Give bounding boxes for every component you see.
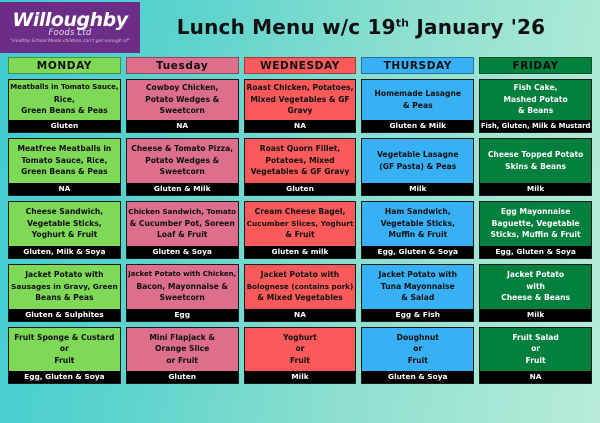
menu-item-line: Chicken Sandwich, Tomato (128, 206, 236, 218)
menu-item-line: Vegetable Lasagne (377, 149, 458, 161)
allergen-badge: NA (9, 183, 120, 195)
menu-cell-friday-1: Fish Cake,Mashed Potato& BeansFish, Glut… (479, 79, 592, 133)
menu-cell-friday-2: Cheese Topped PotatoSkins & BeansMilk (479, 138, 592, 196)
menu-item-line: Baguette, Vegetable (492, 218, 580, 230)
menu-cell-wednesday-2: Roast Quorn Fillet,Potatoes, MixedVegeta… (244, 138, 357, 196)
menu-item-line: or (60, 343, 69, 355)
menu-item-line: & Cucumber Pot, Soreen (130, 218, 235, 230)
menu-item-line: Potatoes, Mixed (265, 155, 334, 167)
menu-item-text: Jacket Potato withBolognese (contains po… (245, 265, 356, 309)
menu-cell-wednesday-4: Jacket Potato withBolognese (contains po… (244, 264, 357, 322)
allergen-badge: Gluten (245, 183, 356, 195)
menu-item-text: Ham Sandwich,Vegetable Sticks,Muffin & F… (362, 202, 473, 246)
menu-item-line: Cream Cheese Bagel, (255, 206, 346, 218)
allergen-badge: Gluten (9, 120, 120, 132)
menu-item-text: Cream Cheese Bagel,Cucumber Slices, Yogh… (245, 202, 356, 246)
menu-item-text: Roast Quorn Fillet,Potatoes, MixedVegeta… (245, 139, 356, 183)
menu-item-line: Jacket Potato (507, 269, 564, 281)
menu-item-line: Loaf & Fruit (157, 229, 207, 241)
day-column-tuesday: TuesdayCowboy Chicken,Potato Wedges &Swe… (126, 57, 239, 384)
menu-grid: MONDAYMeatballs in Tomato Sauce,Rice,Gre… (8, 57, 592, 384)
allergen-badge: Egg, Gluten & Soya (362, 246, 473, 258)
menu-item-line: Bacon, Mayonnaise & (136, 281, 228, 293)
menu-cell-tuesday-4: Jacket Potato with Chicken,Bacon, Mayonn… (126, 264, 239, 322)
menu-item-line: Orange Slice (155, 343, 209, 355)
day-header-monday: MONDAY (8, 57, 121, 74)
menu-item-line: Roast Chicken, Potatoes, (247, 82, 354, 94)
menu-cell-friday-4: Jacket PotatowithCheese & BeansMilk (479, 264, 592, 322)
menu-item-line: Rice, (54, 94, 75, 106)
menu-item-line: Yoghurt (283, 332, 317, 344)
menu-cell-friday-3: Egg MayonnaiseBaguette, VegetableSticks,… (479, 201, 592, 259)
logo-subtitle: Foods Ltd (48, 29, 91, 38)
allergen-badge: Gluten & Soya (362, 371, 473, 383)
menu-item-line: Skins & Beans (505, 161, 566, 173)
day-header-friday: FRIDAY (479, 57, 592, 74)
menu-item-line: & Peas (403, 100, 433, 112)
allergen-badge: Gluten & Sulphites (9, 309, 120, 321)
menu-cell-thursday-1: Homemade Lasagne& PeasGluten & Milk (361, 79, 474, 133)
menu-item-line: or (413, 343, 422, 355)
menu-item-line: Jacket Potato with Chicken, (128, 269, 236, 281)
day-column-wednesday: WEDNESDAYRoast Chicken, Potatoes,Mixed V… (244, 57, 357, 384)
menu-item-text: Vegetable Lasagne(GF Pasta) & Peas (362, 139, 473, 183)
allergen-badge: Egg, Gluten & Soya (480, 246, 591, 258)
allergen-badge: Gluten & Milk (127, 183, 238, 195)
menu-item-text: Fruit Sponge & CustardorFruit (9, 328, 120, 371)
menu-item-line: Homemade Lasagne (375, 88, 462, 100)
menu-item-text: Homemade Lasagne& Peas (362, 80, 473, 120)
menu-item-line: Fish Cake, (514, 82, 558, 94)
menu-cell-tuesday-2: Cheese & Tomato Pizza,Potato Wedges &Swe… (126, 138, 239, 196)
menu-item-text: Chicken Sandwich, Tomato& Cucumber Pot, … (127, 202, 238, 246)
menu-item-text: Cheese & Tomato Pizza,Potato Wedges &Swe… (127, 139, 238, 183)
allergen-badge: NA (480, 371, 591, 383)
menu-item-line: Beans & Peas (35, 292, 93, 304)
day-header-thursday: THURSDAY (361, 57, 474, 74)
menu-item-line: Green Beans & Peas (21, 166, 108, 178)
page-header: Willoughby Foods Ltd "Healthy School Mea… (0, 0, 600, 54)
menu-item-text: Fruit SaladorFruit (480, 328, 591, 371)
menu-cell-tuesday-3: Chicken Sandwich, Tomato& Cucumber Pot, … (126, 201, 239, 259)
menu-item-line: Green Beans & Peas (21, 105, 108, 117)
menu-item-text: Cheese Sandwich,Vegetable Sticks,Yoghurt… (9, 202, 120, 246)
menu-item-line: Cheese Topped Potato (488, 149, 583, 161)
allergen-badge: Gluten & Soya (127, 246, 238, 258)
menu-item-line: Vegetable Sticks, (27, 218, 101, 230)
menu-cell-wednesday-3: Cream Cheese Bagel,Cucumber Slices, Yogh… (244, 201, 357, 259)
menu-item-text: DoughnutorFruit (362, 328, 473, 371)
menu-cell-thursday-2: Vegetable Lasagne(GF Pasta) & PeasMilk (361, 138, 474, 196)
menu-item-line: & Salad (401, 292, 434, 304)
menu-item-line: or (296, 343, 305, 355)
menu-item-line: Mashed Potato (503, 94, 567, 106)
page-title-month: January '26 (409, 15, 545, 39)
menu-item-line: Muffin & Fruit (388, 229, 447, 241)
menu-item-line: Meatfree Meatballs in (17, 143, 111, 155)
menu-item-line: Yoghurt & Fruit (32, 229, 98, 241)
allergen-badge: Gluten (127, 371, 238, 383)
menu-item-text: Roast Chicken, Potatoes,Mixed Vegetables… (245, 80, 356, 120)
menu-item-line: Fruit (54, 355, 74, 367)
menu-item-line: Fruit (408, 355, 428, 367)
menu-item-line: Fruit (290, 355, 310, 367)
menu-item-text: Fish Cake,Mashed Potato& Beans (480, 80, 591, 120)
menu-cell-monday-3: Cheese Sandwich,Vegetable Sticks,Yoghurt… (8, 201, 121, 259)
allergen-badge: Fish, Gluten, Milk & Mustard (480, 120, 591, 132)
menu-item-line: Egg Mayonnaise (501, 206, 571, 218)
menu-item-line: Mini Flapjack & (149, 332, 215, 344)
day-column-friday: FRIDAYFish Cake,Mashed Potato& BeansFish… (479, 57, 592, 384)
menu-item-line: Jacket Potato with (25, 269, 103, 281)
menu-item-line: Doughnut (397, 332, 439, 344)
allergen-badge: Milk (245, 371, 356, 383)
menu-item-line: Vegetable Sticks, (381, 218, 455, 230)
menu-item-line: Fruit Salad (512, 332, 559, 344)
allergen-badge: NA (245, 309, 356, 321)
menu-item-line: (GF Pasta) & Peas (379, 161, 456, 173)
menu-cell-monday-4: Jacket Potato withSausages in Gravy, Gre… (8, 264, 121, 322)
menu-item-line: Gravy (287, 105, 312, 117)
menu-item-line: Cheese & Beans (501, 292, 570, 304)
menu-item-text: YoghurtorFruit (245, 328, 356, 371)
day-header-tuesday: Tuesday (126, 57, 239, 74)
allergen-badge: Milk (480, 309, 591, 321)
allergen-badge: Gluten & Milk (362, 120, 473, 132)
menu-cell-friday-5: Fruit SaladorFruitNA (479, 327, 592, 384)
page-title: Lunch Menu w/c 19th January '26 (140, 15, 600, 39)
menu-item-line: Sausages in Gravy, Green (11, 281, 118, 293)
menu-page: Willoughby Foods Ltd "Healthy School Mea… (0, 0, 600, 423)
menu-cell-thursday-3: Ham Sandwich,Vegetable Sticks,Muffin & F… (361, 201, 474, 259)
menu-item-line: Fruit Sponge & Custard (14, 332, 114, 344)
menu-item-text: Jacket PotatowithCheese & Beans (480, 265, 591, 309)
menu-item-line: Jacket Potato with (379, 269, 457, 281)
menu-item-line: Cheese Sandwich, (26, 206, 103, 218)
menu-item-line: Vegetables & GF Gravy (251, 166, 350, 178)
menu-item-line: with (526, 281, 545, 293)
day-header-wednesday: WEDNESDAY (244, 57, 357, 74)
day-column-monday: MONDAYMeatballs in Tomato Sauce,Rice,Gre… (8, 57, 121, 384)
menu-item-line: Ham Sandwich, (385, 206, 451, 218)
menu-item-line: Fruit (526, 355, 546, 367)
menu-item-line: & Mixed Vegetables (257, 292, 342, 304)
menu-cell-monday-1: Meatballs in Tomato Sauce,Rice,Green Bea… (8, 79, 121, 133)
menu-item-text: Jacket Potato withTuna Mayonnaise& Salad (362, 265, 473, 309)
menu-cell-thursday-5: DoughnutorFruitGluten & Soya (361, 327, 474, 384)
allergen-badge: Egg (127, 309, 238, 321)
menu-item-line: Potato Wedges & (145, 155, 219, 167)
allergen-badge: Egg, Gluten & Soya (9, 371, 120, 383)
page-title-main: Lunch Menu w/c 19 (177, 15, 396, 39)
page-title-ordinal: th (396, 16, 410, 29)
allergen-badge: Milk (362, 183, 473, 195)
menu-item-line: Mixed Vegetables & GF (250, 94, 349, 106)
allergen-badge: Gluten, Milk & Soya (9, 246, 120, 258)
menu-item-line: Cheese & Tomato Pizza, (131, 143, 233, 155)
menu-item-text: Mini Flapjack &Orange Sliceor Fruit (127, 328, 238, 371)
day-column-thursday: THURSDAYHomemade Lasagne& PeasGluten & M… (361, 57, 474, 384)
menu-cell-tuesday-5: Mini Flapjack &Orange Sliceor FruitGlute… (126, 327, 239, 384)
menu-item-line: Tuna Mayonnaise (381, 281, 455, 293)
menu-item-line: & Fruit (285, 229, 314, 241)
menu-cell-monday-2: Meatfree Meatballs inTomato Sauce, Rice,… (8, 138, 121, 196)
menu-item-text: Jacket Potato withSausages in Gravy, Gre… (9, 265, 120, 309)
allergen-badge: NA (245, 120, 356, 132)
menu-item-line: Sweetcorn (160, 166, 205, 178)
menu-item-line: Cowboy Chicken, (146, 82, 218, 94)
menu-item-line: Sweetcorn (160, 105, 205, 117)
menu-item-line: Bolognese (contains pork) (247, 281, 354, 293)
willoughby-foods-logo: Willoughby Foods Ltd "Healthy School Mea… (0, 2, 140, 53)
menu-item-line: & Beans (518, 105, 553, 117)
menu-cell-wednesday-1: Roast Chicken, Potatoes,Mixed Vegetables… (244, 79, 357, 133)
menu-item-line: Sticks, Muffin & Fruit (491, 229, 581, 241)
menu-item-line: or Fruit (166, 355, 198, 367)
menu-item-text: Jacket Potato with Chicken,Bacon, Mayonn… (127, 265, 238, 309)
menu-cell-monday-5: Fruit Sponge & CustardorFruitEgg, Gluten… (8, 327, 121, 384)
menu-item-text: Cowboy Chicken,Potato Wedges &Sweetcorn (127, 80, 238, 120)
menu-cell-thursday-4: Jacket Potato withTuna Mayonnaise& Salad… (361, 264, 474, 322)
menu-item-line: Cucumber Slices, Yoghurt (247, 218, 354, 230)
menu-cell-tuesday-1: Cowboy Chicken,Potato Wedges &SweetcornN… (126, 79, 239, 133)
menu-item-text: Meatfree Meatballs inTomato Sauce, Rice,… (9, 139, 120, 183)
allergen-badge: Gluten & milk (245, 246, 356, 258)
menu-item-line: Sweetcorn (160, 292, 205, 304)
allergen-badge: NA (127, 120, 238, 132)
menu-item-text: Egg MayonnaiseBaguette, VegetableSticks,… (480, 202, 591, 246)
logo-tagline: "Healthy School Meals children can't get… (10, 39, 130, 45)
menu-item-line: or (531, 343, 540, 355)
menu-item-text: Meatballs in Tomato Sauce,Rice,Green Bea… (9, 80, 120, 120)
menu-cell-wednesday-5: YoghurtorFruitMilk (244, 327, 357, 384)
menu-item-line: Potato Wedges & (145, 94, 219, 106)
allergen-badge: Egg & Fish (362, 309, 473, 321)
menu-item-line: Tomato Sauce, Rice, (21, 155, 107, 167)
menu-item-line: Jacket Potato with (261, 269, 339, 281)
allergen-badge: Milk (480, 183, 591, 195)
menu-item-line: Roast Quorn Fillet, (260, 143, 341, 155)
menu-item-text: Cheese Topped PotatoSkins & Beans (480, 139, 591, 183)
menu-item-line: Meatballs in Tomato Sauce, (10, 82, 118, 94)
